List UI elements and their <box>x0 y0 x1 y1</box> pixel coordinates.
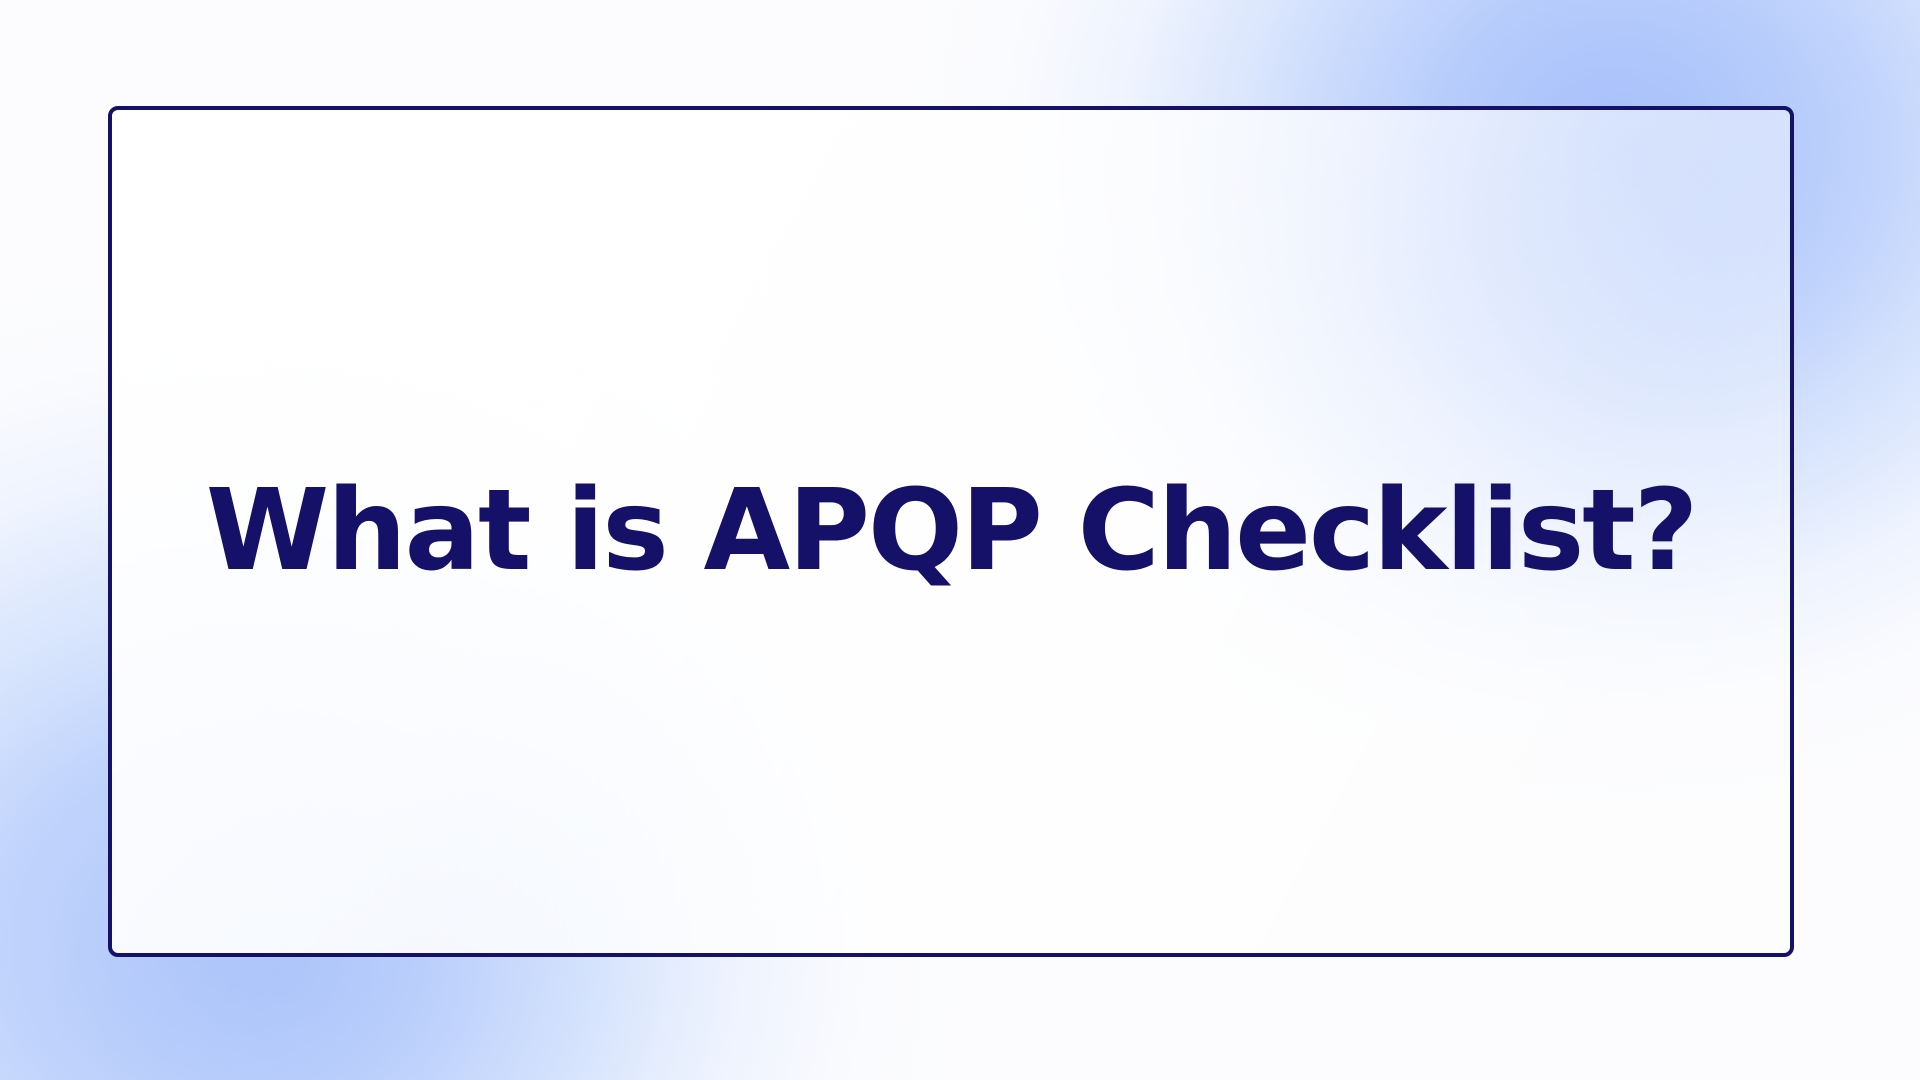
slide-title: What is APQP Checklist? <box>152 472 1750 591</box>
slide-canvas: What is APQP Checklist? <box>0 0 1920 1080</box>
title-block: What is APQP Checklist? <box>112 472 1790 591</box>
content-frame: What is APQP Checklist? <box>108 106 1794 957</box>
